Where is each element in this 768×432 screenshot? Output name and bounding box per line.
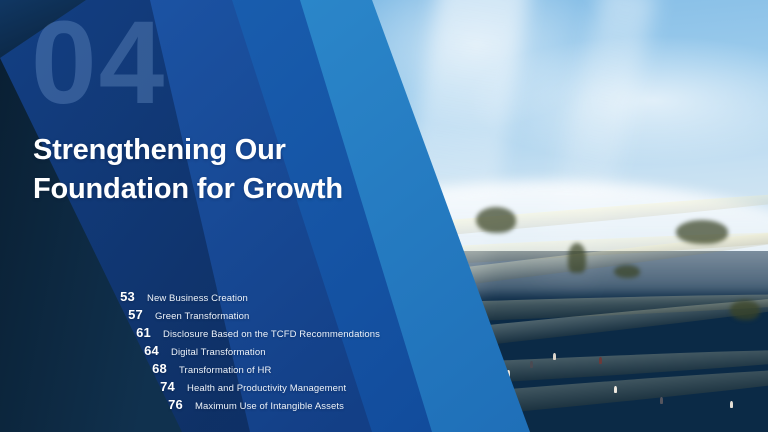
toc-entry-label: Green Transformation [155,311,249,322]
toc-entry-label: Transformation of HR [179,365,271,376]
section-number: 04 [31,4,166,122]
toc-row[interactable]: 74 Health and Productivity Management [0,379,520,397]
table-of-contents: 53 New Business Creation 57 Green Transf… [0,289,520,415]
toc-entry-label: Digital Transformation [171,347,266,358]
toc-row[interactable]: 68 Transformation of HR [0,361,520,379]
title-line-2: Foundation for Growth [33,170,343,209]
toc-entry-label: Health and Productivity Management [187,383,346,394]
toc-page-number: 57 [121,307,143,322]
toc-page-number: 61 [129,325,151,340]
toc-entry-label: New Business Creation [147,293,248,304]
toc-page-number: 74 [153,379,175,394]
toc-row[interactable]: 53 New Business Creation [0,289,520,307]
toc-entry-label: Maximum Use of Intangible Assets [195,401,344,412]
toc-page-number: 64 [137,343,159,358]
toc-page-number: 68 [145,361,167,376]
section-divider-slide: 04 Strengthening Our Foundation for Grow… [0,0,768,432]
toc-row[interactable]: 64 Digital Transformation [0,343,520,361]
toc-row[interactable]: 57 Green Transformation [0,307,520,325]
toc-page-number: 53 [113,289,135,304]
title-line-1: Strengthening Our [33,131,343,170]
toc-page-number: 76 [161,397,183,412]
page-title: Strengthening Our Foundation for Growth [33,131,343,208]
toc-row[interactable]: 76 Maximum Use of Intangible Assets [0,397,520,415]
toc-entry-label: Disclosure Based on the TCFD Recommendat… [163,329,380,340]
toc-row[interactable]: 61 Disclosure Based on the TCFD Recommen… [0,325,520,343]
